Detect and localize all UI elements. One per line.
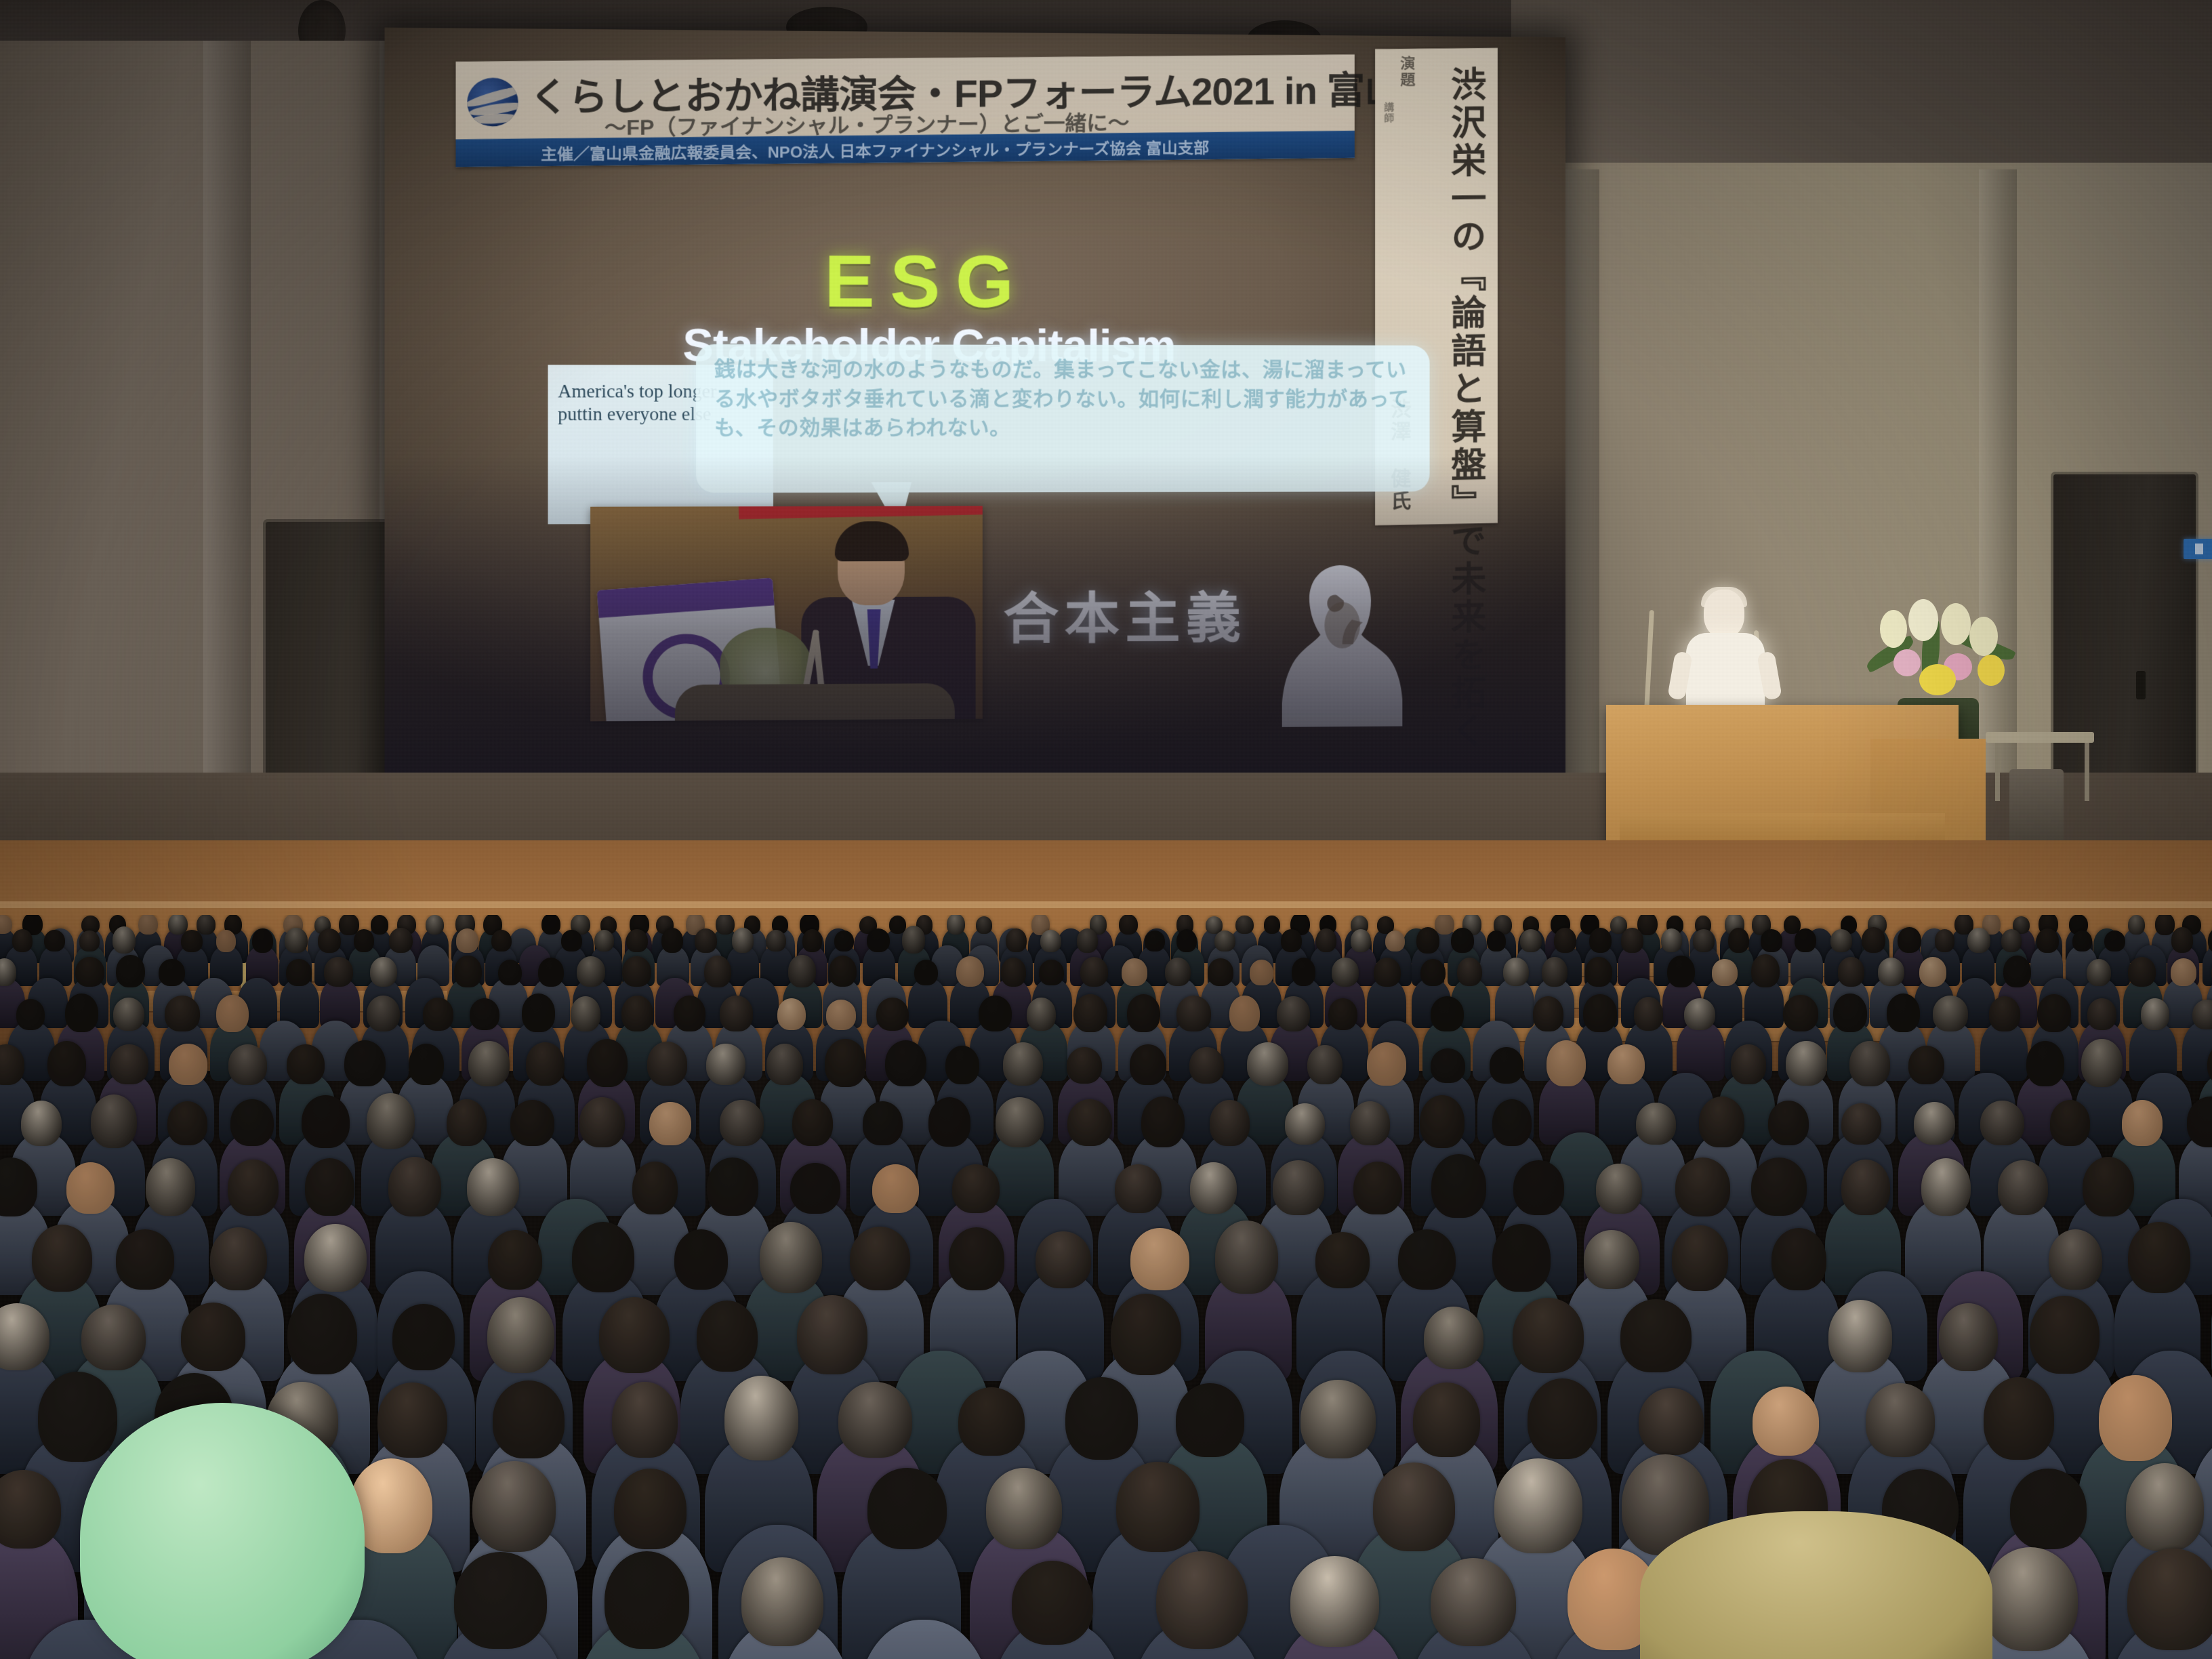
audience-head: [426, 915, 444, 935]
audience-head: [741, 1557, 824, 1647]
audience-head: [1065, 1377, 1138, 1460]
audience-head: [2026, 1041, 2064, 1086]
audience-head: [1111, 1294, 1182, 1375]
audience-head: [2036, 928, 2059, 953]
audience-head: [1783, 995, 1818, 1031]
audience-head: [1012, 1561, 1093, 1645]
audience-head: [996, 1097, 1044, 1147]
audience-head: [1001, 958, 1026, 987]
audience-head: [1080, 957, 1108, 987]
side-table-leg: [1995, 743, 2000, 801]
audience-head: [2122, 1100, 2163, 1146]
audience-head: [181, 930, 203, 952]
door-handle-icon[interactable]: [2136, 671, 2146, 699]
audience-head: [1919, 957, 1946, 987]
audience-head: [885, 1040, 926, 1086]
audience-head: [1247, 1042, 1289, 1086]
audience-head: [370, 957, 397, 987]
audience-head: [621, 996, 653, 1031]
slide-heading: ESG: [682, 237, 1169, 325]
audience-head: [1492, 1224, 1551, 1292]
audience-head: [138, 915, 158, 935]
stage-edge-highlight: [0, 901, 2212, 908]
audience-head: [388, 1157, 442, 1216]
audience-head: [720, 996, 754, 1031]
audience-head: [792, 1099, 833, 1146]
audience-head: [622, 956, 651, 987]
audience-head: [1833, 994, 1867, 1032]
audience-head: [1367, 1042, 1406, 1085]
photo-podium: [675, 683, 955, 721]
audience-head: [1285, 1103, 1325, 1145]
audience-head: [838, 1382, 912, 1458]
audience-head: [1503, 958, 1529, 986]
audience-head: [986, 1468, 1063, 1550]
audience-head: [210, 1227, 267, 1291]
audience-head: [1866, 1383, 1935, 1457]
audience-head: [947, 915, 966, 935]
audience-head: [1127, 994, 1161, 1032]
audience-head: [766, 930, 786, 951]
audience-head: [1435, 915, 1454, 935]
audience-head: [571, 996, 600, 1031]
audience-head: [1116, 1462, 1200, 1551]
audience-head: [579, 1097, 625, 1147]
side-table: [1986, 732, 2094, 743]
audience-head: [587, 1039, 628, 1086]
audience-head: [1067, 1099, 1112, 1147]
audience-head: [2087, 998, 2116, 1030]
concept-label: 合本主義: [1004, 574, 1247, 655]
audience-head: [1675, 1158, 1730, 1216]
audience-head: [112, 926, 136, 953]
audience-head: [1878, 958, 1904, 986]
placard-sublabel: 講師: [1381, 102, 1395, 123]
audience-head: [626, 929, 648, 953]
audience-head: [1073, 994, 1107, 1033]
audience-head: [928, 1097, 970, 1147]
audience-head: [956, 956, 984, 987]
audience-head: [304, 1224, 367, 1292]
audience-head: [1424, 1307, 1483, 1370]
audience-head: [1513, 1298, 1584, 1373]
audience-head: [1431, 1154, 1487, 1218]
audience-head: [1841, 1160, 1890, 1215]
audience-head: [1315, 1232, 1370, 1288]
audience-head: [32, 1225, 92, 1292]
audience-head: [958, 1387, 1025, 1456]
audience-head: [1751, 954, 1780, 988]
audience-head: [1898, 927, 1921, 954]
projection-screen: くらしとおかね講演会・FPフォーラム2021 in 富山 ～FP（ファイナンシャ…: [385, 28, 1565, 806]
seated-audience: [0, 915, 2212, 1659]
audience-head: [1292, 958, 1316, 986]
audience-head: [1273, 1160, 1324, 1214]
audience-head: [354, 929, 374, 952]
audience-head: [1215, 1221, 1279, 1294]
audience-head: [1264, 916, 1280, 934]
audience-head: [1636, 1103, 1676, 1145]
audience-head: [724, 1376, 798, 1460]
audience-head: [169, 1044, 207, 1084]
audience-head: [674, 1229, 728, 1290]
side-table-leg: [2085, 743, 2089, 801]
press-photo: [590, 506, 983, 722]
audience-head: [790, 1163, 840, 1214]
audience-head: [487, 1297, 554, 1374]
audience-head: [1849, 1041, 1890, 1086]
audience-head: [1214, 930, 1235, 951]
audience-head: [367, 996, 400, 1032]
audience-head: [409, 1044, 444, 1085]
audience-head: [1933, 996, 1968, 1031]
screen-surface: くらしとおかね講演会・FPフォーラム2021 in 富山 ～FP（ファイナンシャ…: [385, 28, 1565, 806]
audience-head: [1413, 1382, 1480, 1457]
audience-head: [1589, 928, 1612, 953]
audience-head: [467, 1158, 519, 1216]
audience-head: [389, 928, 413, 953]
audience-head: [2126, 1463, 2204, 1551]
audience-head: [1141, 1097, 1184, 1147]
audience-head: [1487, 930, 1507, 951]
audience-head: [2072, 930, 2092, 951]
audience-head: [2081, 1039, 2123, 1087]
audience-head: [2128, 1222, 2190, 1293]
audience-head: [1003, 1042, 1043, 1086]
audience-head: [599, 1297, 670, 1373]
audience-head: [561, 930, 582, 951]
audience-head: [1190, 1162, 1236, 1214]
audience-head: [1939, 1303, 1997, 1371]
audience-head: [1862, 927, 1885, 953]
audience-head: [2099, 1375, 2173, 1461]
audience-head: [339, 915, 359, 935]
audience-head: [1712, 959, 1738, 986]
audience-head: [197, 915, 216, 935]
audience-head: [1554, 928, 1576, 953]
audience-head: [230, 1099, 274, 1147]
placard-title: 渋沢栄一の『論語と算盤』で未来を拓く: [1440, 66, 1491, 751]
audience-head: [371, 915, 389, 935]
waste-bin: [2009, 769, 2064, 844]
audience-head: [802, 929, 822, 952]
audience-head: [2128, 957, 2156, 986]
audience-head: [1040, 930, 1061, 952]
audience-head: [1786, 1041, 1827, 1086]
audience-head: [498, 960, 522, 986]
audience-head: [605, 1551, 689, 1649]
audience-head: [2083, 1157, 2134, 1217]
audience-head: [47, 1041, 86, 1086]
audience-head: [79, 930, 100, 951]
audience-head: [1921, 1158, 1971, 1216]
audience-head: [2003, 956, 2032, 987]
audience-head: [1457, 958, 1482, 987]
audience-head: [788, 955, 816, 987]
audience-head: [704, 956, 731, 987]
audience-head: [2030, 1296, 2100, 1374]
audience-head: [1420, 959, 1446, 986]
audience-head: [1208, 958, 1234, 986]
audience-head: [826, 1000, 856, 1030]
audience-head: [2171, 927, 2194, 953]
audience-head: [1935, 929, 1955, 952]
audience-head: [1684, 998, 1716, 1031]
audience-head: [318, 928, 341, 953]
audience-head: [1277, 996, 1310, 1031]
audience-head: [1542, 957, 1568, 986]
audience-head: [287, 1044, 325, 1084]
audience-head: [867, 1468, 947, 1549]
audience-head: [287, 1294, 357, 1374]
audience-head: [91, 1094, 137, 1148]
audience-head: [1316, 928, 1337, 952]
audience-head: [110, 1044, 148, 1084]
audience-head: [760, 1222, 823, 1293]
audience-head: [1006, 928, 1027, 953]
audience-head: [1130, 1228, 1189, 1290]
audience-head: [2171, 958, 2196, 986]
audience-head: [777, 998, 806, 1030]
audience-head: [1431, 1558, 1516, 1647]
audience-head: [167, 1101, 207, 1145]
audience-head: [165, 996, 200, 1031]
audience-head: [1176, 929, 1197, 953]
audience-head: [1661, 928, 1682, 952]
audience-head: [1385, 930, 1405, 951]
audience-head: [1416, 927, 1439, 954]
audience-head: [1281, 929, 1302, 952]
audience-head: [1584, 1230, 1639, 1289]
audience-head: [1307, 1045, 1343, 1085]
audience-head: [632, 1162, 678, 1214]
audience-head: [952, 1164, 1000, 1213]
audience-head: [538, 958, 564, 987]
audience-head: [344, 1040, 386, 1086]
audience-head: [454, 956, 481, 987]
audience-head: [647, 1042, 688, 1086]
audience-head: [1607, 1044, 1645, 1084]
audience-head: [216, 995, 249, 1032]
audience-head: [113, 998, 144, 1031]
audience-head: [2127, 1549, 2212, 1650]
foreground-tan-shirt-person: [1640, 1511, 1992, 1659]
audience-head: [228, 1044, 268, 1085]
audience-head: [1620, 1299, 1692, 1372]
audience-head: [377, 1382, 447, 1458]
audience-head: [1768, 1101, 1809, 1146]
audience-head: [1520, 929, 1542, 952]
audience-head: [1914, 1102, 1955, 1145]
audience-head: [1771, 1228, 1826, 1290]
audience-head: [850, 1227, 910, 1290]
audience-head: [594, 930, 614, 951]
audience-head: [2104, 930, 2125, 952]
audience-head: [12, 929, 33, 952]
presenter-head: [1704, 590, 1744, 638]
audience-head: [1494, 1458, 1582, 1553]
audience-head: [181, 1303, 245, 1371]
audience-head: [1027, 998, 1055, 1031]
audience-head: [2155, 915, 2175, 935]
audience-head: [1672, 1225, 1727, 1291]
banner-host-text: 主催／富山県金融広報委員会、NPO法人 日本ファイナンシャル・プランナーズ協会 …: [541, 134, 1348, 165]
audience-head: [65, 994, 98, 1032]
event-banner: くらしとおかね講演会・FPフォーラム2021 in 富山 ～FP（ファイナンシャ…: [455, 54, 1354, 167]
auditorium-photo: くらしとおかね講演会・FPフォーラム2021 in 富山 ～FP（ファイナンシャ…: [0, 0, 2212, 1659]
audience-head: [706, 1044, 745, 1085]
audience-head: [44, 930, 65, 951]
audience-head: [949, 1227, 1005, 1290]
audience-head: [454, 1552, 547, 1649]
audience-head: [876, 998, 909, 1031]
audience-head: [470, 998, 499, 1031]
audience-head: [707, 1158, 758, 1216]
audience-head: [1351, 929, 1371, 952]
audience-head: [1229, 996, 1260, 1031]
audience-head: [285, 928, 307, 953]
audience-head: [2049, 1229, 2102, 1290]
audience-head: [324, 957, 353, 987]
audience-head: [1830, 929, 1853, 952]
audience-head: [1431, 1048, 1465, 1084]
audience-head: [720, 1100, 764, 1146]
audience-head: [305, 1158, 354, 1216]
photo-red-band: [737, 506, 983, 520]
audience-head: [423, 998, 453, 1031]
audience-head: [1235, 916, 1253, 935]
foreground-green-hat: [80, 1403, 365, 1659]
audience-head: [1751, 1158, 1807, 1216]
audience-head: [577, 956, 606, 987]
audience-head: [2001, 929, 2022, 952]
audience-head: [872, 1164, 918, 1214]
audience-head: [81, 1305, 146, 1370]
audience-head: [286, 959, 312, 986]
audience-head: [1353, 1162, 1402, 1215]
audience-head: [1165, 958, 1191, 986]
audience-head: [1887, 994, 1921, 1032]
audience-head: [1583, 994, 1617, 1032]
quote-text: 銭は大きな河の水のようなものだ。集まってこない金は、湯に溜まっている水やボタボタ…: [696, 344, 1429, 444]
audience-head: [468, 1041, 510, 1086]
audience-head: [1983, 1547, 2078, 1651]
audience-head: [1596, 1164, 1642, 1214]
audience-head: [367, 1093, 415, 1149]
audience-head: [1119, 915, 1139, 935]
audience-head: [2010, 1469, 2087, 1549]
audience-head: [766, 1044, 803, 1085]
audience-head: [252, 928, 273, 953]
audience-head: [392, 1304, 455, 1370]
audience-head: [493, 1380, 565, 1458]
photo-person-hair: [835, 521, 909, 561]
audience-head: [976, 916, 992, 933]
audience-head: [979, 996, 1012, 1031]
audience-head: [1176, 1383, 1244, 1457]
audience-head: [1431, 996, 1464, 1031]
photo-chart-header: [597, 578, 775, 618]
audience-head: [116, 955, 145, 987]
audience-head: [1122, 958, 1147, 986]
audience-head: [1210, 1100, 1250, 1146]
shibusawa-silhouette-icon: [1265, 560, 1416, 727]
audience-head: [522, 994, 556, 1032]
audience-head: [1753, 1387, 1819, 1456]
audience-head: [21, 1101, 62, 1146]
audience-head: [488, 1230, 542, 1290]
audience-head: [829, 956, 857, 987]
audience-head: [510, 1100, 554, 1146]
audience-head: [834, 930, 854, 951]
audience-head: [1693, 929, 1715, 952]
audience-head: [1145, 930, 1164, 952]
audience-head: [825, 1039, 867, 1087]
audience-head: [1115, 1164, 1162, 1213]
audience-head: [1667, 956, 1695, 987]
audience-head: [1731, 1044, 1766, 1084]
audience-head: [16, 999, 45, 1030]
audience-head: [2128, 915, 2145, 935]
audience-head: [1189, 1047, 1224, 1084]
audience-head: [66, 1162, 115, 1214]
audience-head: [1728, 928, 1749, 953]
audience-head: [456, 928, 479, 953]
audience-head: [1841, 1103, 1881, 1145]
audience-head: [2037, 994, 2071, 1032]
audience-head: [1639, 1388, 1704, 1456]
audience-head: [1077, 928, 1098, 953]
audience-head: [2087, 959, 2111, 986]
audience-head: [1176, 996, 1211, 1031]
audience-head: [914, 960, 938, 985]
audience-head: [1795, 928, 1816, 952]
audience-head: [1250, 960, 1273, 985]
audience-head: [1130, 1044, 1166, 1085]
audience-head: [863, 1101, 903, 1145]
audience-head: [1328, 998, 1357, 1030]
audience-head: [1908, 1046, 1944, 1084]
audience-head: [1998, 1160, 2049, 1215]
audience-head: [697, 1300, 758, 1372]
audience-head: [902, 926, 926, 954]
audience-head: [2050, 1100, 2090, 1146]
audience-head: [1980, 1101, 2024, 1146]
audience-head: [867, 928, 890, 953]
audience-head: [1398, 1229, 1456, 1290]
audience-head: [1528, 1378, 1597, 1459]
audience-head: [1490, 1047, 1524, 1084]
placard-label: 演題: [1395, 56, 1417, 88]
audience-head: [1420, 1095, 1465, 1148]
audience-head: [541, 915, 560, 935]
audience-head: [491, 930, 512, 952]
audience-head: [695, 928, 717, 953]
audience-head: [216, 930, 236, 952]
exit-sign: [2184, 539, 2212, 559]
presenter: [1681, 590, 1769, 718]
audience-head: [1967, 928, 1991, 954]
audience-head: [526, 1042, 565, 1086]
audience-head: [75, 957, 104, 987]
audience-head: [945, 1046, 980, 1084]
audience-head: [1156, 1551, 1248, 1650]
audience-head: [1492, 1099, 1532, 1146]
audience-head: [1332, 958, 1359, 987]
banner-host-bar: 主催／富山県金融広報委員会、NPO法人 日本ファイナンシャル・プランナーズ協会 …: [455, 131, 1354, 167]
audience-head: [146, 1158, 195, 1216]
audience-head: [1513, 1160, 1565, 1215]
